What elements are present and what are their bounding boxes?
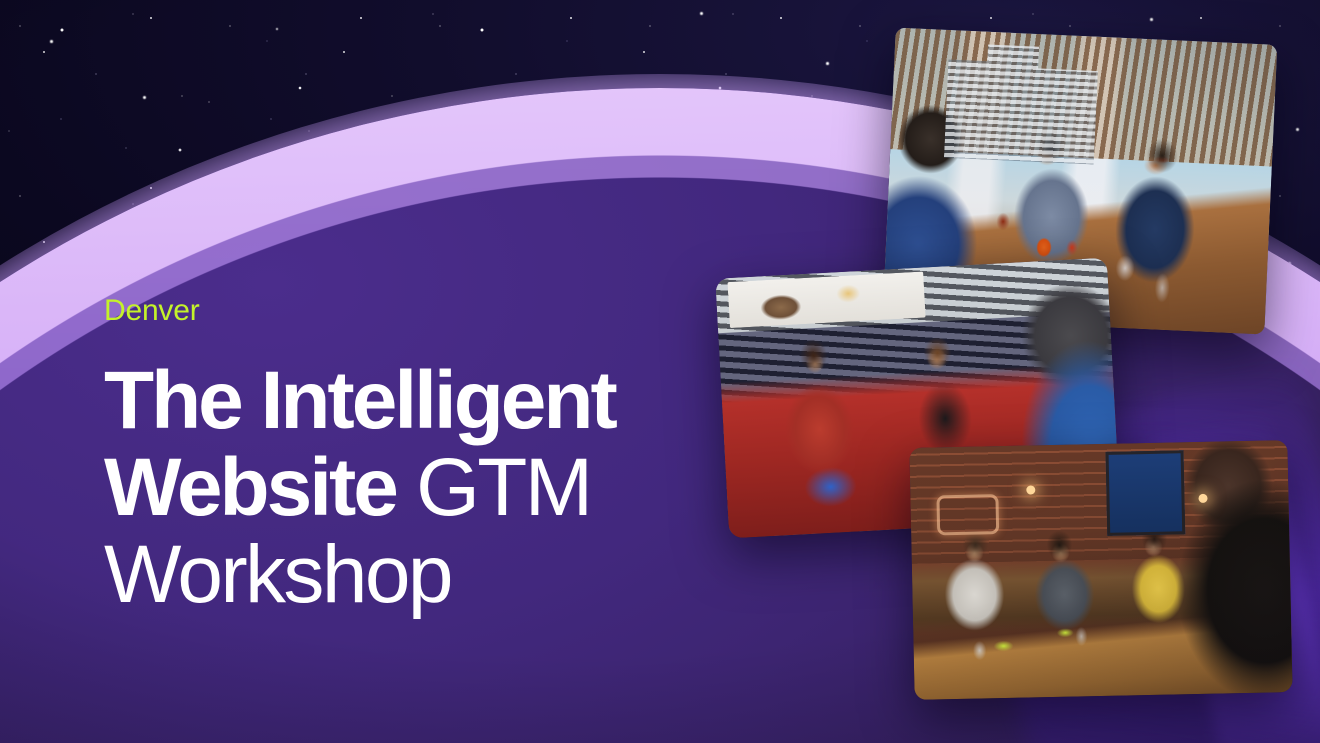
- wall-lamp-icon: [1198, 494, 1207, 503]
- star-icon: [50, 40, 53, 43]
- star-icon: [143, 96, 146, 99]
- star-icon: [276, 28, 278, 30]
- hero-copy-block: Denver The Intelligent Website GTM Works…: [104, 296, 724, 618]
- neon-sign-icon: [936, 494, 999, 535]
- headline-line-3-text: Workshop: [104, 529, 451, 620]
- headline-line-2: Website GTM: [104, 444, 724, 531]
- headline-line-1: The Intelligent: [104, 357, 724, 444]
- headline-line-2-light-text: GTM: [396, 442, 591, 533]
- star-icon: [700, 12, 703, 15]
- event-city-eyebrow: Denver: [104, 296, 724, 326]
- headline-line-1-text: The Intelligent: [104, 355, 615, 446]
- headline-line-2-strong-text: Website: [104, 442, 396, 533]
- headline-line-3: Workshop: [104, 531, 724, 618]
- restaurant-window: [1106, 450, 1186, 536]
- star-icon: [1288, 262, 1291, 265]
- hero-banner: Denver The Intelligent Website GTM Works…: [0, 0, 1320, 743]
- page-title: The Intelligent Website GTM Workshop: [104, 357, 724, 618]
- star-icon: [1296, 128, 1299, 131]
- star-icon: [826, 62, 829, 65]
- wall-lamp-icon: [1026, 485, 1035, 494]
- city-towers: [944, 38, 1099, 165]
- star-icon: [1150, 18, 1153, 21]
- wall-artwork: [727, 272, 925, 329]
- photo-image-brick-restaurant: [909, 440, 1292, 700]
- collage-photo-brick-restaurant: [909, 440, 1292, 700]
